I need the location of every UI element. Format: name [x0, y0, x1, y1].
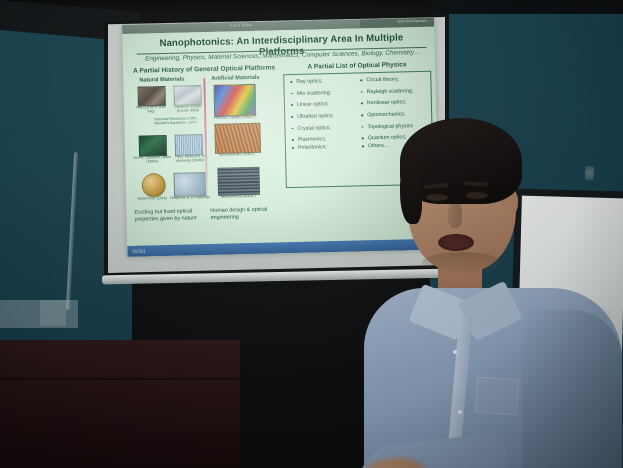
lecture-room-photo: 1 of 1 Slides Slide Show Nanoph… Nanopho… — [0, 0, 623, 468]
list-item: Crystal optics; — [289, 124, 357, 132]
caption-stones: Stones & crystals (Carrier, 9000) — [170, 104, 206, 113]
title-bar-right-text: Slide Show Nanoph… — [397, 19, 430, 24]
shoulder-shading — [522, 310, 622, 468]
list-item-continued: Polaritonics; — [290, 144, 358, 152]
industrial-revolution-note: Industrial Revolution 1780s Maxwell's Eq… — [146, 116, 204, 126]
caption-photonic-crystals: Photonic Crystals (1980s-) — [210, 115, 258, 120]
caption-nobel: Nobel Prize (2014) — [134, 196, 170, 201]
caption-quantum-optics: Atomic, Quantum Optics (1900s) — [133, 155, 171, 164]
physics-list-left-column: Ray optics; Mie scattering; Linear optic… — [288, 77, 358, 152]
list-item: Circuit theory; — [358, 76, 428, 84]
nose — [448, 202, 462, 228]
artificial-materials-footer: Human design & optical engineering — [210, 207, 270, 222]
caption-fiber: Fiber, semicond, Si photonics (2000s) — [171, 154, 209, 163]
meteorite-thumb — [137, 86, 165, 107]
slide-page-indicator: 31/321 — [132, 248, 146, 253]
caption-metamaterials: Metamaterials (1990s-) — [209, 152, 265, 157]
caption-2d-materials: Graphene & 2D materials — [170, 195, 210, 200]
wainscot-trim — [0, 378, 240, 380]
natural-materials-footer: Exciting but fixed optical properties gi… — [134, 208, 200, 223]
list-item: Linear optics; — [289, 101, 357, 109]
fiber-thumb — [175, 134, 203, 156]
list-item: Rayleigh scattering; — [359, 87, 429, 95]
eye-left — [426, 194, 448, 201]
shirt-button — [458, 410, 462, 414]
list-item: Plasmonics, — [290, 136, 358, 144]
right-section-heading: A Partial List of Optical Physics — [283, 61, 431, 71]
shirt-pocket — [475, 377, 519, 416]
background-floor-patch — [0, 300, 78, 328]
nobel-medal-thumb — [142, 173, 167, 198]
metasurface-thumb — [217, 167, 260, 196]
metamaterial-thumb — [214, 123, 261, 154]
wainscot-panel — [0, 340, 240, 468]
title-bar-center-text: 1 of 1 Slides — [230, 23, 253, 28]
natural-materials-header: Natural Materials — [139, 77, 184, 84]
quantum-optics-thumb — [139, 135, 167, 157]
crystal-thumb — [173, 85, 201, 106]
caption-metasurfaces: Metasurfaces (2010s-) — [210, 194, 266, 199]
caption-fire: Fire (1.0 M Yr (100 KA)) — [134, 105, 168, 114]
list-item: Mie scattering; — [289, 89, 357, 97]
artificial-materials-header: Artificial Materials — [211, 75, 259, 82]
left-section-heading: A Partial History of General Optical Pla… — [129, 64, 279, 75]
hair-sideburn — [400, 162, 422, 224]
shirt-button — [453, 350, 457, 354]
materials-grid: Natural Materials Artificial Materials F… — [129, 74, 284, 228]
list-item: Ray optics; — [288, 77, 356, 85]
photonic-crystal-thumb — [213, 84, 256, 117]
two-d-materials-thumb — [173, 172, 206, 197]
mouth — [438, 234, 474, 251]
list-item: Nonlinear optics; — [359, 99, 429, 107]
eye-right — [466, 192, 488, 199]
presenter — [372, 110, 622, 468]
list-item: Ultrafast optics; — [289, 113, 357, 121]
background-tripod — [40, 300, 66, 326]
chin-shading — [422, 252, 502, 274]
